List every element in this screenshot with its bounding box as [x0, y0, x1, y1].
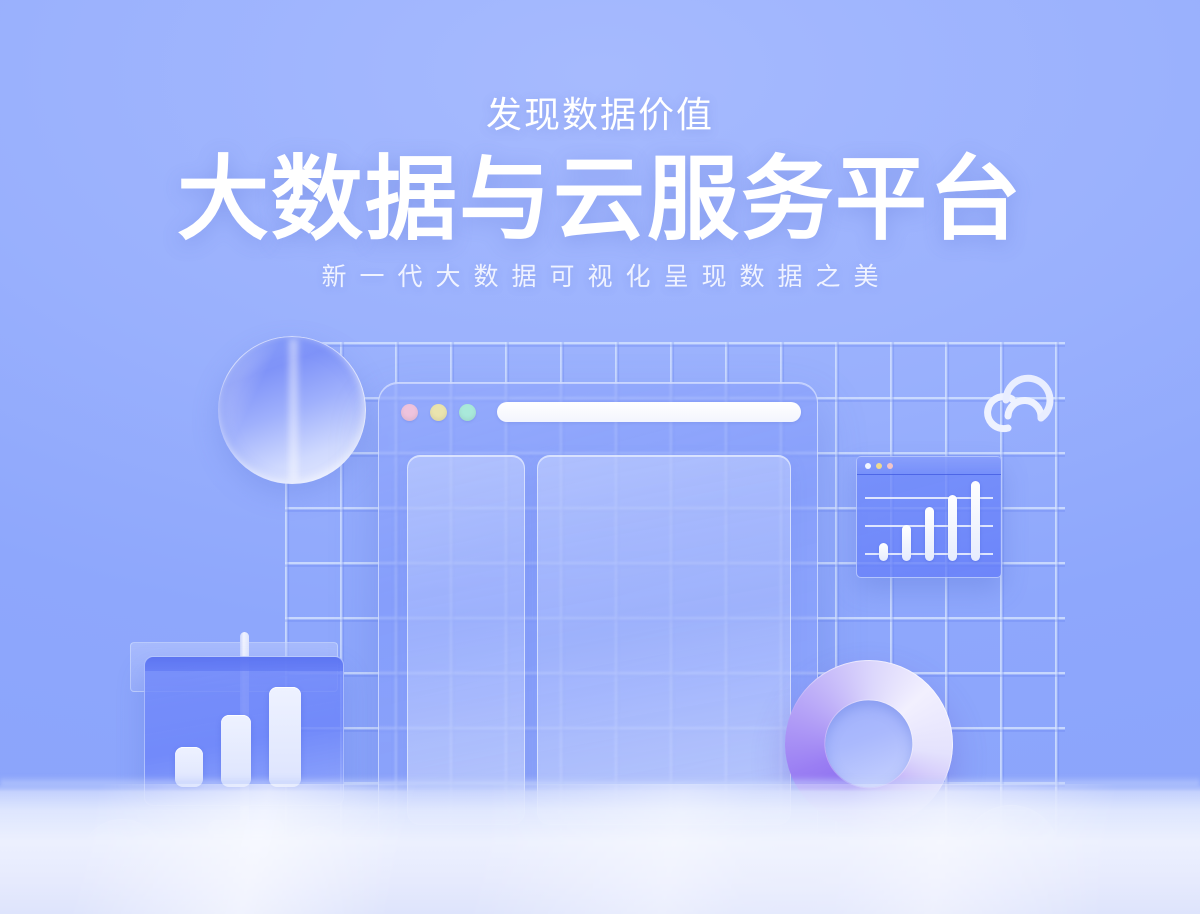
monitor-header-bar: [145, 657, 343, 671]
browser-sidebar-panel[interactable]: [407, 455, 525, 825]
chart-window-plot: [857, 479, 1001, 569]
chart-bar: [925, 507, 934, 561]
glass-disc-decoration: [218, 336, 366, 484]
hero-text-block: 发现数据价值 大数据与云服务平台 新一代大数据可视化呈现数据之美: [0, 86, 1200, 293]
floor-reflection-sheen: [0, 784, 1200, 914]
page-title: 大数据与云服务平台: [0, 152, 1200, 249]
chart-dot-white-icon[interactable]: [865, 463, 871, 469]
browser-content-panel[interactable]: [537, 455, 791, 825]
browser-titlebar: [379, 383, 817, 441]
chart-bar: [902, 525, 911, 561]
chart-dot-yellow-icon[interactable]: [876, 463, 882, 469]
chart-dot-pink-icon[interactable]: [887, 463, 893, 469]
chart-bar: [971, 481, 980, 561]
eyebrow-text: 发现数据价值: [0, 86, 1200, 138]
chart-window-mockup[interactable]: [856, 456, 1002, 578]
browser-window-mockup[interactable]: [378, 382, 818, 840]
traffic-light-pink-icon[interactable]: [401, 404, 418, 421]
chart-bar: [879, 543, 888, 561]
chart-bar: [948, 495, 957, 561]
traffic-light-mint-icon[interactable]: [459, 404, 476, 421]
subtitle-text: 新一代大数据可视化呈现数据之美: [0, 257, 1200, 293]
chart-window-titlebar: [857, 457, 1001, 475]
address-bar-input[interactable]: [497, 402, 801, 422]
cloud-icon: [978, 366, 1064, 436]
hero-banner: 发现数据价值 大数据与云服务平台 新一代大数据可视化呈现数据之美: [0, 0, 1200, 914]
traffic-light-yellow-icon[interactable]: [430, 404, 447, 421]
monitor-bar: [269, 687, 301, 787]
